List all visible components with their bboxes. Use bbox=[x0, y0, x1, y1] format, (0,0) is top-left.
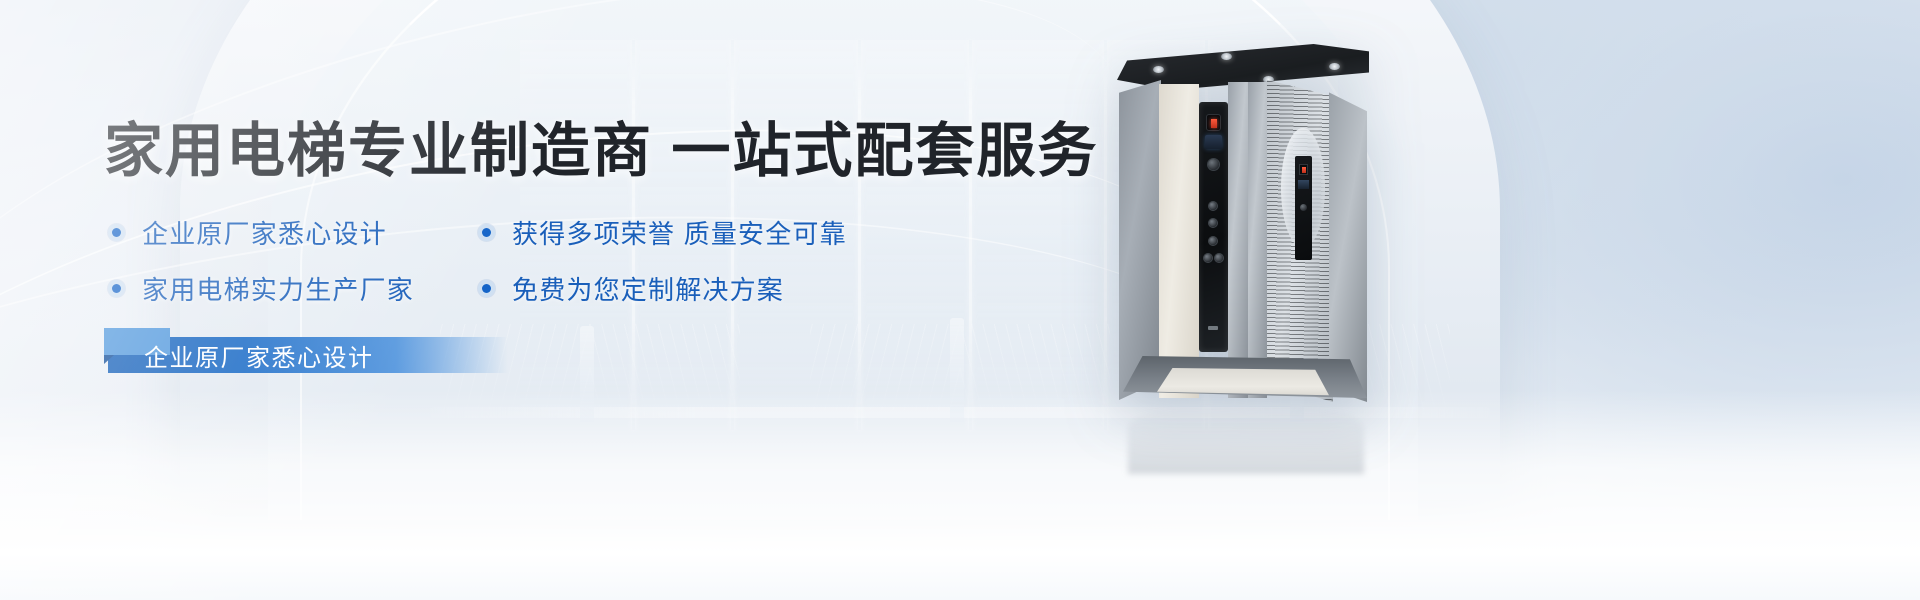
banner-headline: 家用电梯专业制造商 一站式配套服务 bbox=[104, 118, 1098, 184]
feature-row: 企业原厂家悉心设计 获得多项荣誉 质量安全可靠 bbox=[108, 214, 988, 270]
feature-label: 获得多项荣誉 质量安全可靠 bbox=[512, 214, 847, 251]
feature-label: 企业原厂家悉心设计 bbox=[142, 214, 387, 251]
feature-item-0: 企业原厂家悉心设计 bbox=[108, 214, 478, 251]
blue-dot-icon bbox=[478, 280, 495, 297]
hero-banner: 家用电梯专业制造商 一站式配套服务 企业原厂家悉心设计 获得多项荣誉 质量安全可… bbox=[0, 0, 1920, 600]
banner-content: 家用电梯专业制造商 一站式配套服务 企业原厂家悉心设计 获得多项荣誉 质量安全可… bbox=[0, 0, 1920, 600]
feature-item-3: 免费为您定制解决方案 bbox=[478, 270, 784, 307]
feature-item-1: 获得多项荣誉 质量安全可靠 bbox=[478, 214, 847, 251]
feature-row: 家用电梯实力生产厂家 免费为您定制解决方案 bbox=[108, 270, 988, 326]
feature-label: 免费为您定制解决方案 bbox=[512, 270, 784, 307]
ribbon-label: 企业原厂家悉心设计 bbox=[144, 338, 374, 373]
feature-list: 企业原厂家悉心设计 获得多项荣誉 质量安全可靠 家用电梯实力生产厂家 免费为您定… bbox=[108, 214, 988, 326]
blue-dot-icon bbox=[478, 224, 495, 241]
feature-label: 家用电梯实力生产厂家 bbox=[142, 270, 414, 307]
blue-dot-icon bbox=[108, 224, 125, 241]
feature-item-2: 家用电梯实力生产厂家 bbox=[108, 270, 478, 307]
blue-dot-icon bbox=[108, 280, 125, 297]
highlight-ribbon[interactable]: 企业原厂家悉心设计 bbox=[108, 337, 508, 373]
